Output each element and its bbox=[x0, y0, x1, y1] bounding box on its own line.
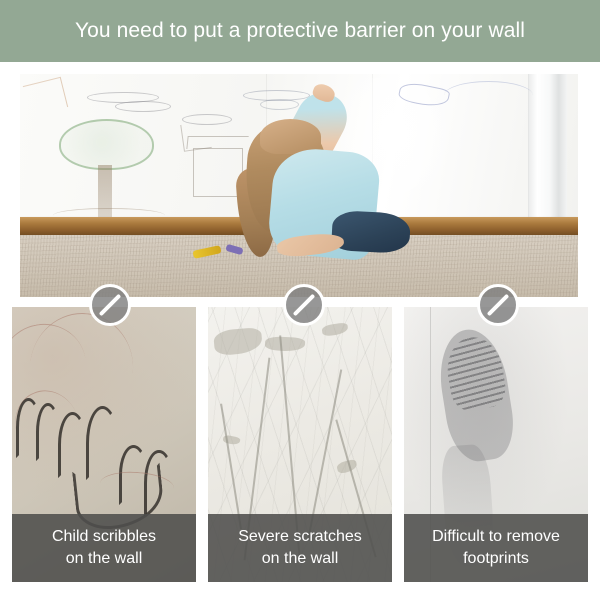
wall-crack bbox=[308, 369, 342, 537]
no-prohibition-icon bbox=[477, 284, 519, 326]
problem-panel-child-scribbles[interactable]: Child scribbles on the wall bbox=[12, 307, 196, 582]
crayon-zigzag bbox=[58, 412, 87, 478]
problem-panel-row: Child scribbles on the wall Severe scrat… bbox=[12, 307, 588, 582]
caption-line-2: on the wall bbox=[66, 548, 143, 570]
caption-line-2: on the wall bbox=[262, 548, 339, 570]
caption-line-1: Severe scratches bbox=[238, 526, 362, 548]
no-prohibition-icon bbox=[89, 284, 131, 326]
panel-caption: Difficult to remove footprints bbox=[404, 514, 588, 582]
problem-panel-footprints[interactable]: Difficult to remove footprints bbox=[404, 307, 588, 582]
paint-chip bbox=[321, 322, 348, 336]
caption-line-2: footprints bbox=[463, 548, 529, 570]
caption-line-1: Child scribbles bbox=[52, 526, 156, 548]
crayon-zigzag bbox=[36, 403, 60, 461]
header-banner: You need to put a protective barrier on … bbox=[0, 0, 600, 62]
child-figure bbox=[20, 74, 578, 297]
panel-caption: Severe scratches on the wall bbox=[208, 514, 392, 582]
hero-photo bbox=[20, 74, 578, 297]
promo-page: You need to put a protective barrier on … bbox=[0, 0, 600, 600]
caption-line-1: Difficult to remove bbox=[432, 526, 560, 548]
panel-caption: Child scribbles on the wall bbox=[12, 514, 196, 582]
child-jeans bbox=[331, 210, 411, 254]
page-title: You need to put a protective barrier on … bbox=[75, 19, 525, 43]
problem-panel-severe-scratches[interactable]: Severe scratches on the wall bbox=[208, 307, 392, 582]
paint-chip bbox=[265, 336, 306, 352]
wall-crack bbox=[220, 404, 241, 529]
paint-chip bbox=[213, 327, 263, 356]
no-prohibition-icon bbox=[283, 284, 325, 326]
